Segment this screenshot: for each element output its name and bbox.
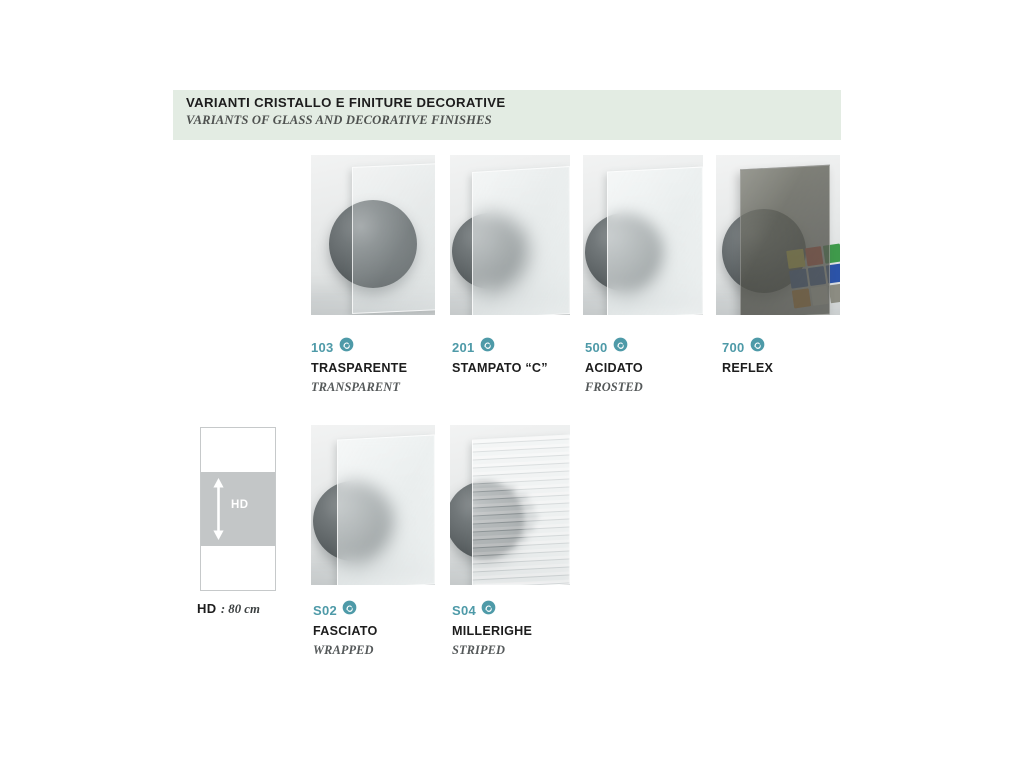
sample-card-500[interactable]	[583, 155, 703, 315]
sample-card-700[interactable]	[716, 155, 840, 315]
sample-name-it: STAMPATO “C”	[452, 361, 548, 375]
hd-caption-value: : 80 cm	[221, 602, 260, 616]
sample-name-en: FROSTED	[585, 380, 643, 395]
sample-photo-500	[583, 155, 703, 315]
sample-name-it: MILLERIGHE	[452, 624, 532, 638]
page-subtitle: VARIANTS OF GLASS AND DECORATIVE FINISHE…	[186, 113, 492, 128]
color-chip	[829, 283, 840, 303]
sample-code: 103	[311, 340, 334, 355]
swirl-circle-icon	[480, 337, 495, 357]
glass-pane-clear	[352, 163, 435, 314]
sample-code-row-201: 201	[452, 337, 495, 357]
sample-photo-103	[311, 155, 435, 315]
sample-card-103[interactable]	[311, 155, 435, 315]
sample-code: S04	[452, 603, 476, 618]
swirl-circle-icon	[342, 600, 357, 620]
sample-photo-s04	[450, 425, 570, 585]
sample-card-s02[interactable]	[311, 425, 435, 585]
sample-name-en: TRANSPARENT	[311, 380, 400, 395]
sample-photo-201	[450, 155, 570, 315]
hd-caption-key: HD	[197, 601, 216, 616]
sample-photo-s02	[311, 425, 435, 585]
sample-name-it: TRASPARENTE	[311, 361, 407, 375]
section-header-band: VARIANTI CRISTALLO E FINITURE DECORATIVE…	[173, 90, 841, 140]
sample-name-it: FASCIATO	[313, 624, 378, 638]
hd-double-arrow-icon	[212, 478, 225, 540]
hd-caption: HD : 80 cm	[197, 600, 260, 618]
swirl-circle-icon	[750, 337, 765, 357]
swirl-circle-icon	[613, 337, 628, 357]
sample-name-en: WRAPPED	[313, 643, 374, 658]
sample-code: S02	[313, 603, 337, 618]
sample-name-it: REFLEX	[722, 361, 773, 375]
glass-pane-reflex	[740, 165, 830, 315]
sample-code-row-103: 103	[311, 337, 354, 357]
glass-finishes-catalog-page: { "header": { "title": "VARIANTI CRISTAL…	[0, 0, 1024, 768]
sample-name-en: STRIPED	[452, 643, 505, 658]
glass-pane-striped	[472, 434, 570, 585]
sample-code-row-500: 500	[585, 337, 628, 357]
glass-pane-patterned	[472, 166, 570, 315]
hd-dimension-diagram: HD	[200, 427, 276, 591]
sample-name-it: ACIDATO	[585, 361, 643, 375]
hd-band-label: HD	[231, 499, 248, 511]
sample-code-row-s02: S02	[313, 600, 357, 620]
sample-card-s04[interactable]	[450, 425, 570, 585]
sample-photo-700	[716, 155, 840, 315]
pane-sheen	[741, 166, 829, 315]
sample-code-row-s04: S04	[452, 600, 496, 620]
sample-code: 500	[585, 340, 608, 355]
swirl-circle-icon	[339, 337, 354, 357]
sample-code-row-700: 700	[722, 337, 765, 357]
glass-pane-wrapped	[337, 434, 435, 585]
glass-pane-frosted	[607, 166, 703, 315]
sample-code: 700	[722, 340, 745, 355]
sample-card-201[interactable]	[450, 155, 570, 315]
sample-code: 201	[452, 340, 475, 355]
page-title: VARIANTI CRISTALLO E FINITURE DECORATIVE	[186, 95, 506, 110]
swirl-circle-icon	[481, 600, 496, 620]
